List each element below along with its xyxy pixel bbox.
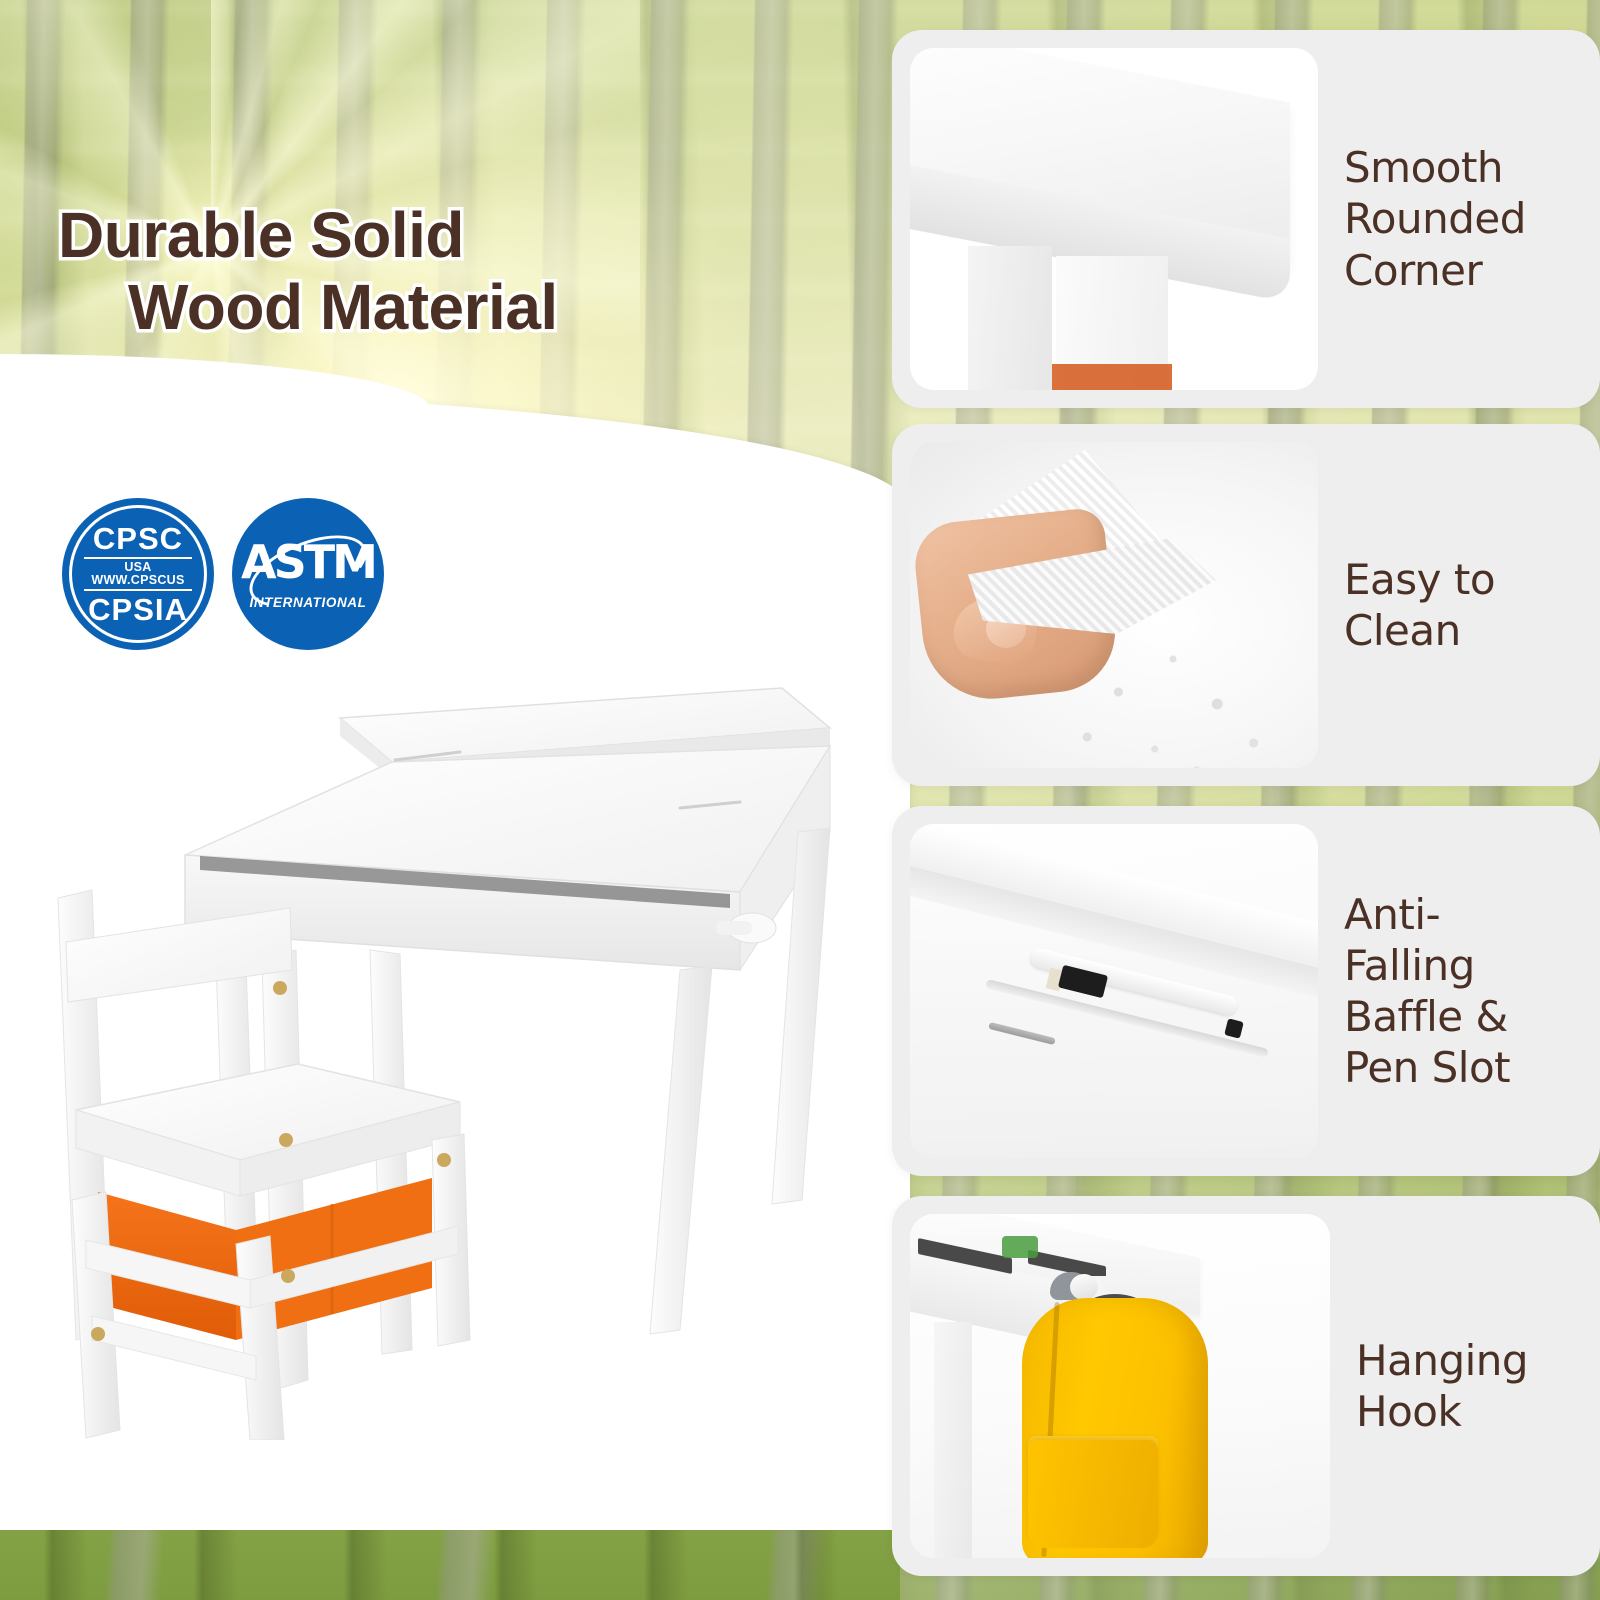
- astm-international-badge: ASTM INTERNATIONAL: [232, 498, 384, 650]
- photo-table-corner-closeup: [910, 48, 1318, 390]
- caption-text: Hanging Hook: [1356, 1335, 1528, 1437]
- feature-panel-list: Smooth Rounded Corner Easy to Clean: [870, 0, 1600, 1600]
- cpsc-cpsia-badge: CPSC USA WWW.CPSCUS CPSIA: [62, 498, 214, 650]
- page-title: Durable Solid Wood Material: [52, 200, 872, 343]
- desk-leg-left: [934, 1322, 972, 1558]
- feature-panel-easy-to-clean[interactable]: Easy to Clean: [892, 424, 1600, 786]
- cpsc-badge-bottom-label: CPSIA: [88, 594, 188, 625]
- caption-anti-falling-baffle-pen-slot: Anti- Falling Baffle & Pen Slot: [1318, 806, 1600, 1176]
- caption-text: Smooth Rounded Corner: [1344, 142, 1526, 296]
- caption-text: Easy to Clean: [1344, 554, 1495, 656]
- photo-desk-baffle-and-pen: [910, 824, 1318, 1158]
- title-line-1: Durable Solid: [52, 200, 872, 272]
- title-line-2: Wood Material: [52, 272, 872, 344]
- photo-hand-wiping-surface: [910, 442, 1318, 768]
- caption-hanging-hook: Hanging Hook: [1330, 1196, 1600, 1576]
- photo-yellow-backpack-on-hook: [910, 1214, 1330, 1558]
- backpack-front-pocket: [1028, 1440, 1158, 1548]
- orange-bin-peek: [1052, 364, 1172, 390]
- certification-badges: CPSC USA WWW.CPSCUS CPSIA ASTM INTERNATI…: [62, 498, 384, 650]
- feature-panel-anti-falling-baffle-pen-slot[interactable]: Anti- Falling Baffle & Pen Slot: [892, 806, 1600, 1176]
- table-leg-left: [968, 246, 1052, 390]
- feature-panel-smooth-rounded-corner[interactable]: Smooth Rounded Corner: [892, 30, 1600, 408]
- cpsc-badge-top-label: CPSC: [93, 523, 183, 554]
- caption-easy-to-clean: Easy to Clean: [1318, 424, 1600, 786]
- product-hero-image: [40, 640, 870, 1440]
- infographic-canvas: Durable Solid Wood Material CPSC USA WWW…: [0, 0, 1600, 1600]
- caption-text: Anti- Falling Baffle & Pen Slot: [1344, 889, 1510, 1094]
- hook-knob: [1070, 1274, 1098, 1300]
- desk-and-chair-illustration: [40, 640, 870, 1440]
- feature-panel-hanging-hook[interactable]: Hanging Hook: [892, 1196, 1600, 1576]
- cpsc-badge-url-label: USA WWW.CPSCUS: [84, 557, 192, 591]
- caption-smooth-rounded-corner: Smooth Rounded Corner: [1318, 30, 1600, 408]
- green-label: [1002, 1236, 1038, 1258]
